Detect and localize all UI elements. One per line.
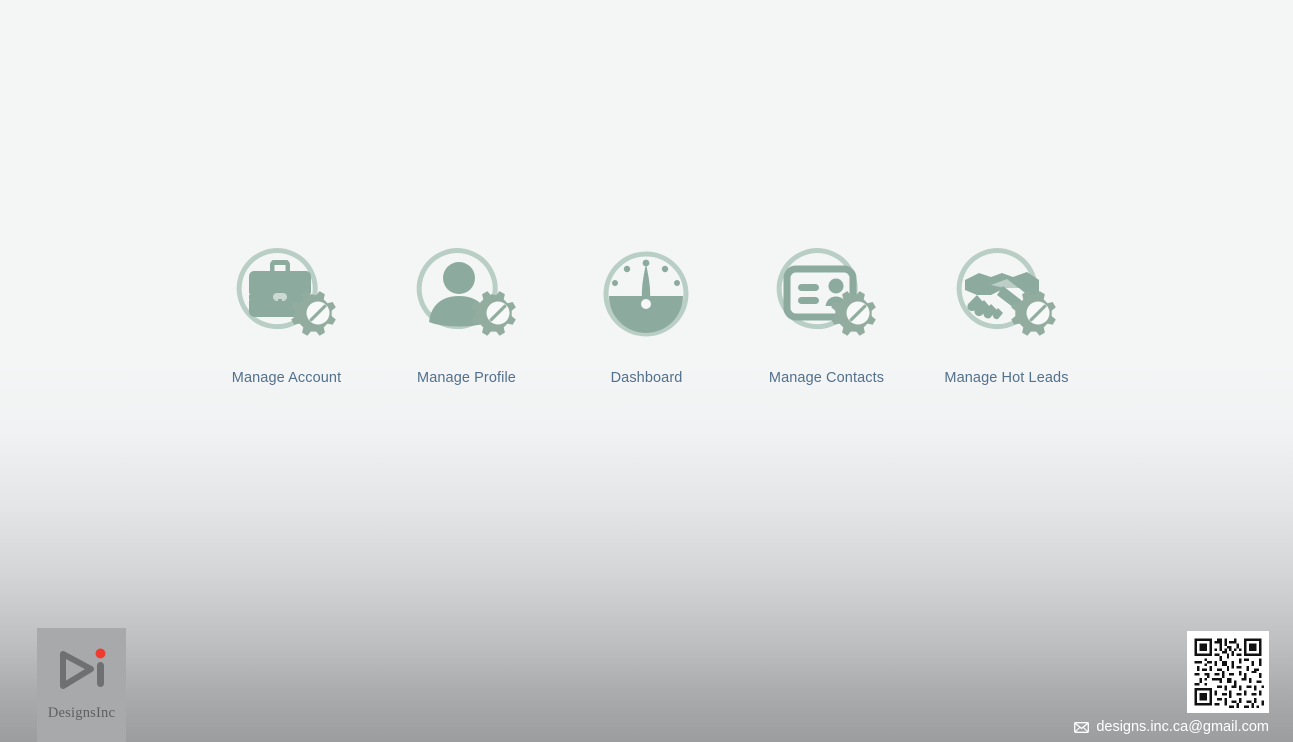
tile-label: Manage Profile — [417, 370, 516, 386]
tile-manage-contacts[interactable]: Manage Contacts — [737, 238, 917, 386]
brand-logo[interactable]: DesignsInc — [37, 628, 126, 742]
handshake-gear-icon — [947, 238, 1067, 358]
envelope-icon — [1074, 721, 1089, 732]
tile-label: Manage Hot Leads — [944, 370, 1068, 386]
gauge-icon — [587, 238, 707, 358]
tile-label: Dashboard — [611, 370, 683, 386]
tile-label: Manage Contacts — [769, 370, 884, 386]
tile-label: Manage Account — [232, 370, 341, 386]
contact-block: designs.inc.ca@gmail.com — [1074, 631, 1269, 735]
gear-badge — [471, 291, 516, 336]
id-card-gear-icon — [767, 238, 887, 358]
tile-manage-hot-leads[interactable]: Manage Hot Leads — [917, 238, 1097, 386]
briefcase-gear-icon — [227, 238, 347, 358]
app-root: Manage Account Manage Prof — [0, 0, 1293, 742]
qr-code-icon[interactable] — [1187, 631, 1269, 713]
shortcut-tile-row: Manage Account Manage Prof — [0, 238, 1293, 386]
tile-manage-profile[interactable]: Manage Profile — [377, 238, 557, 386]
tile-dashboard[interactable]: Dashboard — [557, 238, 737, 386]
tile-manage-account[interactable]: Manage Account — [197, 238, 377, 386]
email-contact-line[interactable]: designs.inc.ca@gmail.com — [1074, 720, 1269, 735]
di-monogram-icon — [51, 642, 113, 698]
person-gear-icon — [407, 238, 527, 358]
email-address: designs.inc.ca@gmail.com — [1096, 720, 1269, 735]
brand-name: DesignsInc — [48, 705, 115, 722]
